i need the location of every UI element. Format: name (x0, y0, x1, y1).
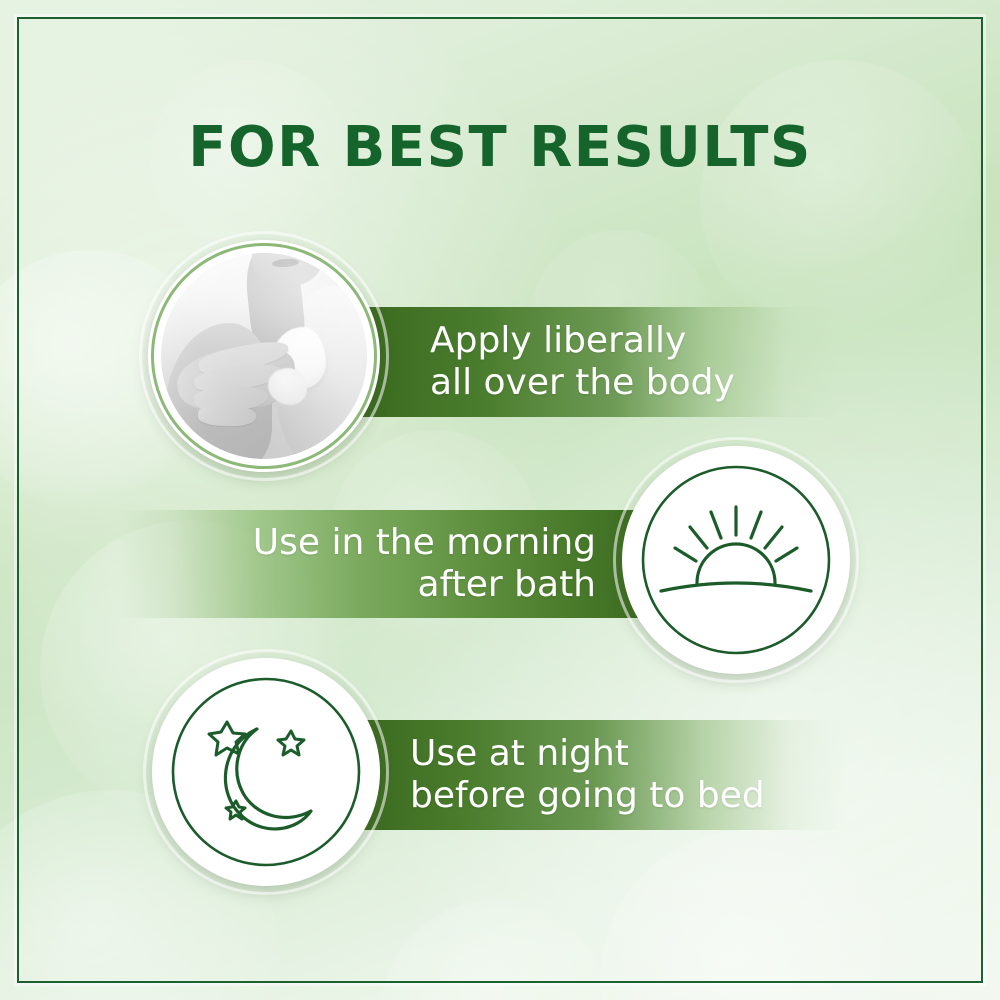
woman-applying-cream-photo (161, 253, 367, 459)
photo-finger (198, 404, 256, 427)
sunrise-icon (635, 459, 837, 661)
step-text-night: Use at night before going to bed (410, 733, 765, 817)
bokeh-circle (380, 900, 610, 1000)
photo-finger (193, 360, 282, 394)
photo-finger (193, 385, 268, 412)
step-icon-circle-morning (622, 446, 850, 674)
circle-accent-ring (151, 243, 377, 469)
page-title: FOR BEST RESULTS (0, 120, 1000, 176)
step-banner-morning: Use in the morning after bath (118, 510, 648, 618)
photo-shoulder-right (276, 286, 367, 459)
photo-shading-overlay (161, 253, 367, 459)
for-best-results-poster: FOR BEST RESULTS Apply liberally all ove… (0, 0, 1000, 1000)
circle-inner-disc (635, 459, 837, 661)
photo-arm (173, 339, 301, 419)
circle-inner-disc (161, 253, 367, 459)
photo-cream-blob (272, 327, 326, 389)
photo-cream-blob-lower (268, 368, 307, 405)
bokeh-circle (600, 830, 900, 1000)
circle-inner-disc (165, 671, 367, 873)
step-text-morning: Use in the morning after bath (253, 522, 596, 606)
step-icon-circle-apply (148, 240, 380, 472)
photo-finger (197, 337, 290, 378)
bokeh-circle (700, 60, 980, 340)
photo-shoulder-left (165, 323, 272, 459)
photo-chin (252, 253, 322, 286)
step-icon-circle-night (152, 658, 380, 886)
photo-lips (272, 258, 299, 268)
step-text-apply: Apply liberally all over the body (430, 320, 735, 404)
photo-neck (242, 253, 306, 354)
crescent-moon-stars-icon (165, 671, 367, 873)
